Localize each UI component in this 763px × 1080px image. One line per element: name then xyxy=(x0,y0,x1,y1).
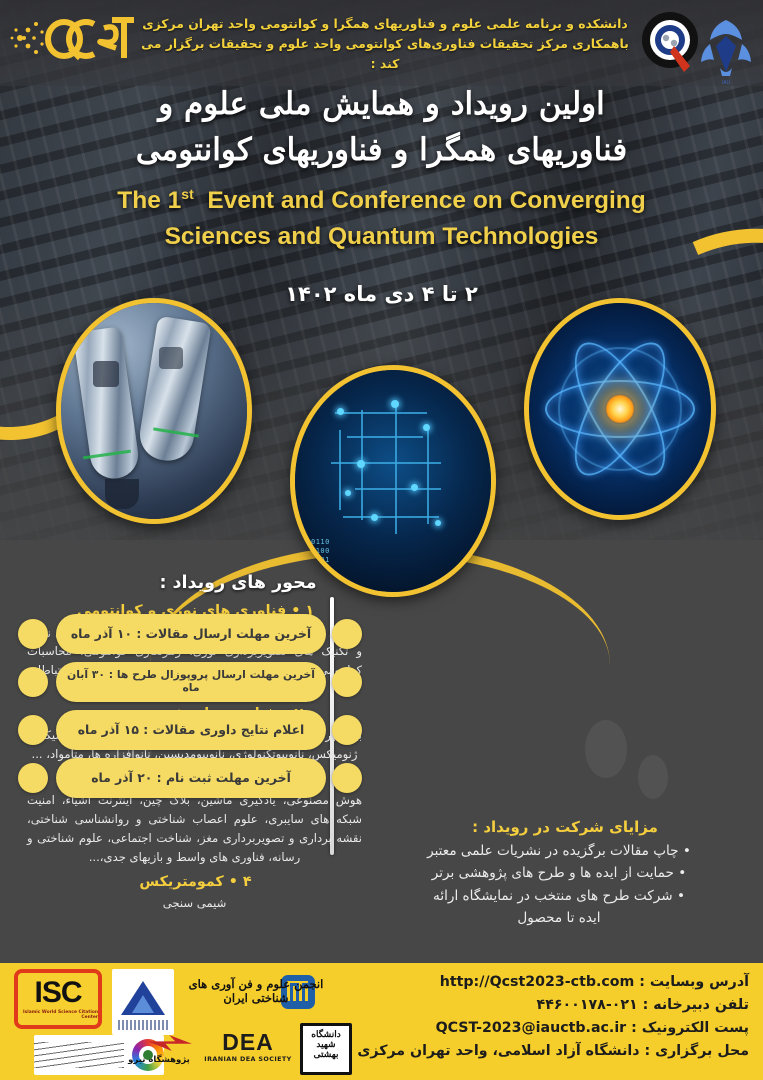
benefit-bullet: • xyxy=(677,888,685,904)
deadlines-list: آخرین مهلت ارسال مقالات : ۱۰ آذر ماه آخر… xyxy=(14,612,364,804)
venue-row: محل برگزاری : دانشگاه آزاد اسلامی، واحد … xyxy=(319,1040,749,1063)
title-en-prefix: The 1 xyxy=(117,187,181,214)
pill-dot-left xyxy=(18,619,48,649)
benefits-list: • چاپ مقالات برگزیده در نشریات علمی معتب… xyxy=(368,840,750,929)
topic-number: ۴ xyxy=(243,874,252,890)
venue-label: محل برگزاری : xyxy=(645,1043,750,1059)
phone-row: تلفن دبیرخانه : ۰۲۱-۴۴۶۰۰۱۷۸ xyxy=(319,994,749,1017)
pill-dot-left xyxy=(18,667,48,697)
benefit-continuation: ایده تا محصول xyxy=(368,907,750,929)
inner-triangle-icon xyxy=(132,995,154,1013)
pill-dot-right xyxy=(332,715,362,745)
pill-dot-left xyxy=(18,715,48,745)
isc-subtitle: Islamic World Science Citation Center xyxy=(18,1010,98,1020)
venue-value: دانشگاه آزاد اسلامی، واحد تهران مرکزی xyxy=(357,1043,639,1059)
topic-title: ۴ • کمومتریکس xyxy=(13,871,378,895)
email-label: پست الکترونیک : xyxy=(631,1020,749,1036)
deadline-row: آخرین مهلت ارسال مقالات : ۱۰ آذر ماه xyxy=(14,612,364,660)
dea-wordmark: DEA xyxy=(186,1031,310,1054)
calligraphy-mark xyxy=(34,1042,124,1068)
qcst-logo xyxy=(8,8,136,70)
circuit-brain-photo-bubble: 0110010010011001101 xyxy=(290,365,496,597)
decorative-dot xyxy=(638,755,668,799)
islamic-azad-university-icon xyxy=(701,20,751,76)
benefit-label: حمایت از ایده ها و طرح های پژوهشی برتر xyxy=(432,862,674,884)
top-right-logos: IAU xyxy=(640,6,758,86)
atom-photo-bubble xyxy=(524,298,716,520)
isc-wordmark: ISC xyxy=(35,978,82,1008)
conference-poster: دانشکده و برنامه علمی علوم و فناوریهای ه… xyxy=(0,0,763,1080)
topic-item: ۴ • کمومتریکس شیمی سنجی xyxy=(13,871,378,913)
title-fa-line-1: اولین رویداد و همایش ملی علوم و xyxy=(0,82,763,128)
page-title-en: The 1st Event and Conference on Convergi… xyxy=(0,183,763,256)
phone-number: ۰۲۱-۴۴۶۰۰۱۷۸ xyxy=(537,997,638,1013)
topic-label: کمومتریکس xyxy=(139,874,223,890)
beheshti-label: دانشگاه شهید بهشتی xyxy=(307,1030,345,1068)
title-fa-line-2: فناوریهای همگرا و فناوریهای کوانتومی xyxy=(0,128,763,174)
phone-label: تلفن دبیرخانه : xyxy=(643,997,749,1013)
nirou-research-institute-label: پژوهشگاه نیرو xyxy=(122,1055,196,1065)
website-url[interactable]: http://Qcst2023-ctb.com xyxy=(440,974,635,990)
email-address[interactable]: QCST-2023@iauctb.ac.ir xyxy=(436,1020,627,1036)
title-en-rest: Event and Conference on Converging xyxy=(207,187,645,214)
benefit-label: شرکت طرح های منتخب در نمایشگاه ارائه xyxy=(433,885,673,907)
organizer-line-2: باهمکاری مرکز تحقیقات فناوری‌های کوانتوم… xyxy=(135,34,635,74)
pill-dot-right xyxy=(332,763,362,793)
email-row: پست الکترونیک : QCST-2023@iauctb.ac.ir xyxy=(319,1017,749,1040)
isc-logo: ISC Islamic World Science Citation Cente… xyxy=(14,969,102,1029)
dea-subtitle: IRANIAN DEA SOCIETY xyxy=(186,1055,310,1063)
contact-info: آدرس وبسایت : http://Qcst2023-ctb.com تل… xyxy=(319,971,749,1063)
benefit-item: • حمایت از ایده ها و طرح های پژوهشی برتر xyxy=(368,862,750,884)
dea-logo: DEA IRANIAN DEA SOCIETY xyxy=(186,1031,310,1075)
title-en-line-1: The 1st Event and Conference on Convergi… xyxy=(0,183,763,219)
benefit-label: چاپ مقالات برگزیده در نشریات علمی معتبر xyxy=(427,840,679,862)
beheshti-university-logo: دانشگاه شهید بهشتی xyxy=(300,1023,352,1075)
organizer-header: دانشکده و برنامه علمی علوم و فناوریهای ه… xyxy=(135,14,635,74)
benefit-bullet: • xyxy=(678,865,686,881)
deadline-row: آخرین مهلت ارسال پروپوزال طرح ها : ۳۰ آب… xyxy=(14,660,364,708)
secondary-logos xyxy=(34,1035,164,1075)
pill-dot-right xyxy=(332,619,362,649)
decorative-dot xyxy=(585,720,627,778)
association-name: انجمن علوم و فن آوری های شناختی ایران xyxy=(176,977,336,1005)
website-row: آدرس وبسایت : http://Qcst2023-ctb.com xyxy=(319,971,749,994)
deadline-row: آخرین مهلت ثبت نام : ۲۰ آذر ماه xyxy=(14,756,364,804)
topic-bullet: • xyxy=(229,874,238,890)
title-en-line-2: Sciences and Quantum Technologies xyxy=(0,219,763,255)
deadline-pill: اعلام نتایج داوری مقالات : ۱۵ آذر ماه xyxy=(56,710,326,750)
benefit-item: • شرکت طرح های منتخب در نمایشگاه ارائه xyxy=(368,885,750,907)
title-en-superscript: st xyxy=(181,186,193,202)
page-title-fa: اولین رویداد و همایش ملی علوم و فناوریها… xyxy=(0,82,763,174)
benefits-heading: مزایای شرکت در رویداد : xyxy=(380,818,750,836)
website-label: آدرس وبسایت : xyxy=(639,974,749,990)
deadline-pill: آخرین مهلت ارسال مقالات : ۱۰ آذر ماه xyxy=(56,614,326,654)
deadline-pill: آخرین مهلت ارسال پروپوزال طرح ها : ۳۰ آب… xyxy=(56,662,326,702)
organizer-line-1: دانشکده و برنامه علمی علوم و فناوریهای ه… xyxy=(135,14,635,34)
benefit-bullet: • xyxy=(683,843,691,859)
pill-dot-left xyxy=(18,763,48,793)
quantum-research-center-icon xyxy=(642,12,698,72)
logo-caption-lines xyxy=(118,1020,168,1030)
benefit-item: • چاپ مقالات برگزیده در نشریات علمی معتب… xyxy=(368,840,750,862)
footer-bar: آدرس وبسایت : http://Qcst2023-ctb.com تل… xyxy=(0,963,763,1080)
topic-body: شیمی سنجی xyxy=(13,894,378,913)
pill-dot-right xyxy=(332,667,362,697)
microscope-photo-bubble xyxy=(56,298,252,524)
deadline-pill: آخرین مهلت ثبت نام : ۲۰ آذر ماه xyxy=(56,758,326,798)
deadline-row: اعلام نتایج داوری مقالات : ۱۵ آذر ماه xyxy=(14,708,364,756)
cognitive-science-logo xyxy=(112,969,174,1035)
topics-heading: محور های رویداد : xyxy=(123,573,353,593)
